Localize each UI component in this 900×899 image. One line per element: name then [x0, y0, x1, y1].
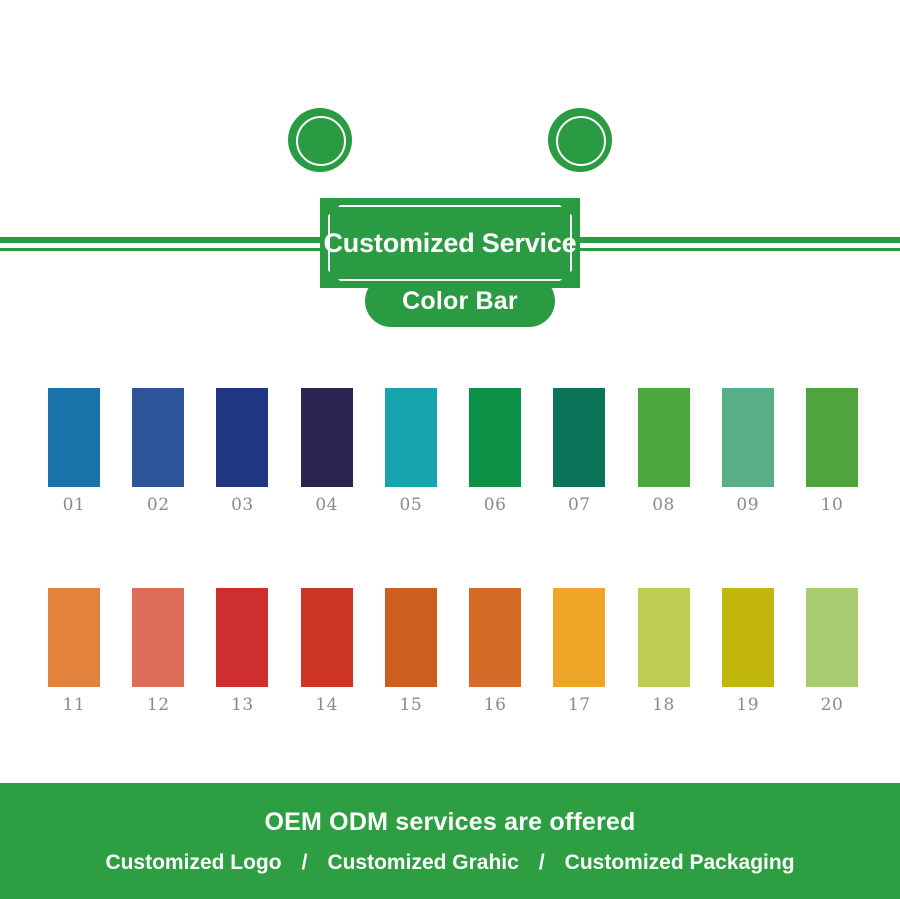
color-chip-01[interactable]: [48, 388, 100, 487]
color-chip-09[interactable]: [722, 388, 774, 487]
swatch-cell[interactable]: 01: [48, 388, 100, 514]
swatch-cell[interactable]: 19: [722, 588, 774, 714]
color-chip-07[interactable]: [553, 388, 605, 487]
color-label-06: 06: [484, 497, 507, 514]
color-chip-12[interactable]: [132, 588, 184, 687]
header-ribbon: Customized Service: [0, 95, 900, 205]
color-label-04: 04: [315, 497, 338, 514]
swatch-cell[interactable]: 13: [216, 588, 268, 714]
color-label-16: 16: [484, 697, 507, 714]
color-chip-03[interactable]: [216, 388, 268, 487]
color-label-19: 19: [736, 697, 759, 714]
footer-services: Customized Logo / Customized Grahic / Cu…: [105, 851, 794, 875]
swatch-row-warm: 11 12 13 14 15 16 17 18 19 20: [48, 588, 858, 714]
color-chip-11[interactable]: [48, 588, 100, 687]
swatch-cell[interactable]: 18: [638, 588, 690, 714]
footer-service-logo: Customized Logo: [105, 851, 281, 875]
swatch-cell[interactable]: 04: [301, 388, 353, 514]
color-label-10: 10: [821, 497, 844, 514]
color-label-03: 03: [231, 497, 254, 514]
footer-separator: /: [302, 851, 308, 875]
plaque-inner-outline-right: [556, 116, 606, 166]
swatch-cell[interactable]: 10: [806, 388, 858, 514]
color-chip-20[interactable]: [806, 588, 858, 687]
color-label-11: 11: [63, 697, 86, 714]
color-label-14: 14: [315, 697, 338, 714]
swatch-cell[interactable]: 02: [132, 388, 184, 514]
swatch-cell[interactable]: 12: [132, 588, 184, 714]
swatch-cell[interactable]: 16: [469, 588, 521, 714]
color-label-02: 02: [147, 497, 170, 514]
color-chip-17[interactable]: [553, 588, 605, 687]
color-chip-08[interactable]: [638, 388, 690, 487]
plaque-inner-outline-left: [296, 116, 346, 166]
color-label-20: 20: [821, 697, 844, 714]
color-label-01: 01: [63, 497, 86, 514]
footer-service-packaging: Customized Packaging: [565, 851, 795, 875]
swatch-cell[interactable]: 06: [469, 388, 521, 514]
color-chip-18[interactable]: [638, 588, 690, 687]
color-label-17: 17: [568, 697, 591, 714]
footer-service-graphic: Customized Grahic: [327, 851, 518, 875]
swatch-cell[interactable]: 17: [553, 588, 605, 714]
color-chip-16[interactable]: [469, 588, 521, 687]
color-label-08: 08: [652, 497, 675, 514]
color-chip-13[interactable]: [216, 588, 268, 687]
color-chip-19[interactable]: [722, 588, 774, 687]
footer-headline: OEM ODM services are offered: [264, 808, 635, 837]
color-label-05: 05: [400, 497, 423, 514]
swatch-cell[interactable]: 15: [385, 588, 437, 714]
footer-separator: /: [539, 851, 545, 875]
color-chip-10[interactable]: [806, 388, 858, 487]
color-chip-05[interactable]: [385, 388, 437, 487]
swatch-cell[interactable]: 07: [553, 388, 605, 514]
color-chip-15[interactable]: [385, 588, 437, 687]
color-label-15: 15: [400, 697, 423, 714]
swatch-cell[interactable]: 09: [722, 388, 774, 514]
color-chip-02[interactable]: [132, 388, 184, 487]
color-label-09: 09: [736, 497, 759, 514]
color-label-13: 13: [231, 697, 254, 714]
page-title: Customized Service: [320, 198, 580, 288]
swatch-cell[interactable]: 20: [806, 588, 858, 714]
swatch-cell[interactable]: 11: [48, 588, 100, 714]
footer-banner: OEM ODM services are offered Customized …: [0, 783, 900, 899]
color-chip-06[interactable]: [469, 388, 521, 487]
swatch-row-cool: 01 02 03 04 05 06 07 08 09 10: [48, 388, 858, 514]
swatch-cell[interactable]: 03: [216, 388, 268, 514]
swatch-cell[interactable]: 14: [301, 588, 353, 714]
color-label-12: 12: [147, 697, 170, 714]
color-label-18: 18: [652, 697, 675, 714]
swatch-cell[interactable]: 05: [385, 388, 437, 514]
color-label-07: 07: [568, 497, 591, 514]
color-chip-14[interactable]: [301, 588, 353, 687]
color-chip-04[interactable]: [301, 388, 353, 487]
swatch-cell[interactable]: 08: [638, 388, 690, 514]
